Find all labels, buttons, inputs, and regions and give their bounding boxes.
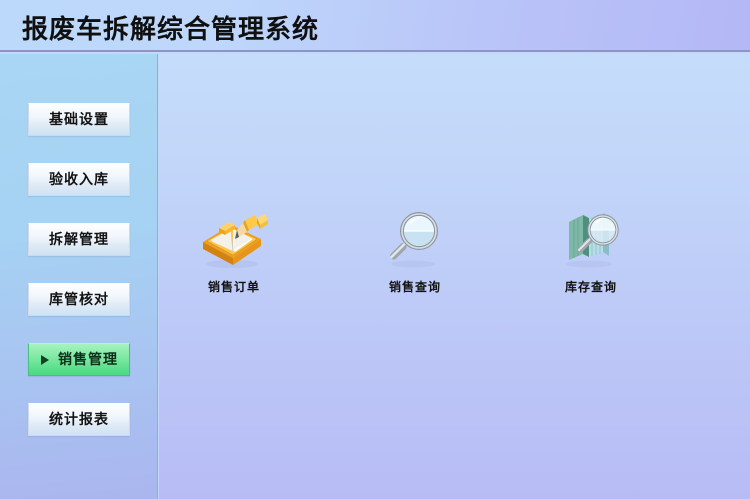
module-icon-grid: 销售订单 [159,206,750,316]
module-tile-label: 销售订单 [174,281,294,293]
sidebar-item-basic-settings[interactable]: 基础设置 [28,103,130,136]
module-tile-sales-order[interactable]: 销售订单 [174,206,294,293]
chevron-right-icon [41,355,49,365]
sidebar-item-dismantling-management[interactable]: 拆解管理 [28,223,130,256]
main-content: 销售订单 [159,54,750,499]
sidebar-item-sales-management[interactable]: 销售管理 [28,343,130,376]
page-title: 报废车拆解综合管理系统 [22,9,319,46]
module-tile-sales-query[interactable]: 销售查询 [355,206,475,293]
module-tile-label: 库存查询 [531,281,651,293]
sidebar-item-label: 基础设置 [49,113,109,127]
sidebar: 基础设置 验收入库 拆解管理 库管核对 销售管理 统计报表 [0,54,158,499]
sidebar-item-statistics-report[interactable]: 统计报表 [28,403,130,436]
magnifier-icon [380,206,450,272]
sidebar-item-label: 库管核对 [49,293,109,307]
sidebar-item-label: 统计报表 [49,413,109,427]
module-tile-inventory-query[interactable]: 库存查询 [531,206,651,293]
sidebar-item-label: 验收入库 [49,173,109,187]
sidebar-item-inspection-storage[interactable]: 验收入库 [28,163,130,196]
sidebar-item-label: 拆解管理 [49,233,109,247]
book-magnifier-icon [556,206,626,272]
sidebar-item-warehouse-check[interactable]: 库管核对 [28,283,130,316]
sidebar-item-label: 销售管理 [58,353,118,367]
order-book-pencil-icon [199,206,269,272]
sidebar-nav: 基础设置 验收入库 拆解管理 库管核对 销售管理 统计报表 [28,103,130,463]
module-tile-label: 销售查询 [355,281,475,293]
application-window: 报废车拆解综合管理系统 基础设置 验收入库 拆解管理 库管核对 销售管理 统计报… [0,0,750,499]
app-header: 报废车拆解综合管理系统 [0,0,750,52]
